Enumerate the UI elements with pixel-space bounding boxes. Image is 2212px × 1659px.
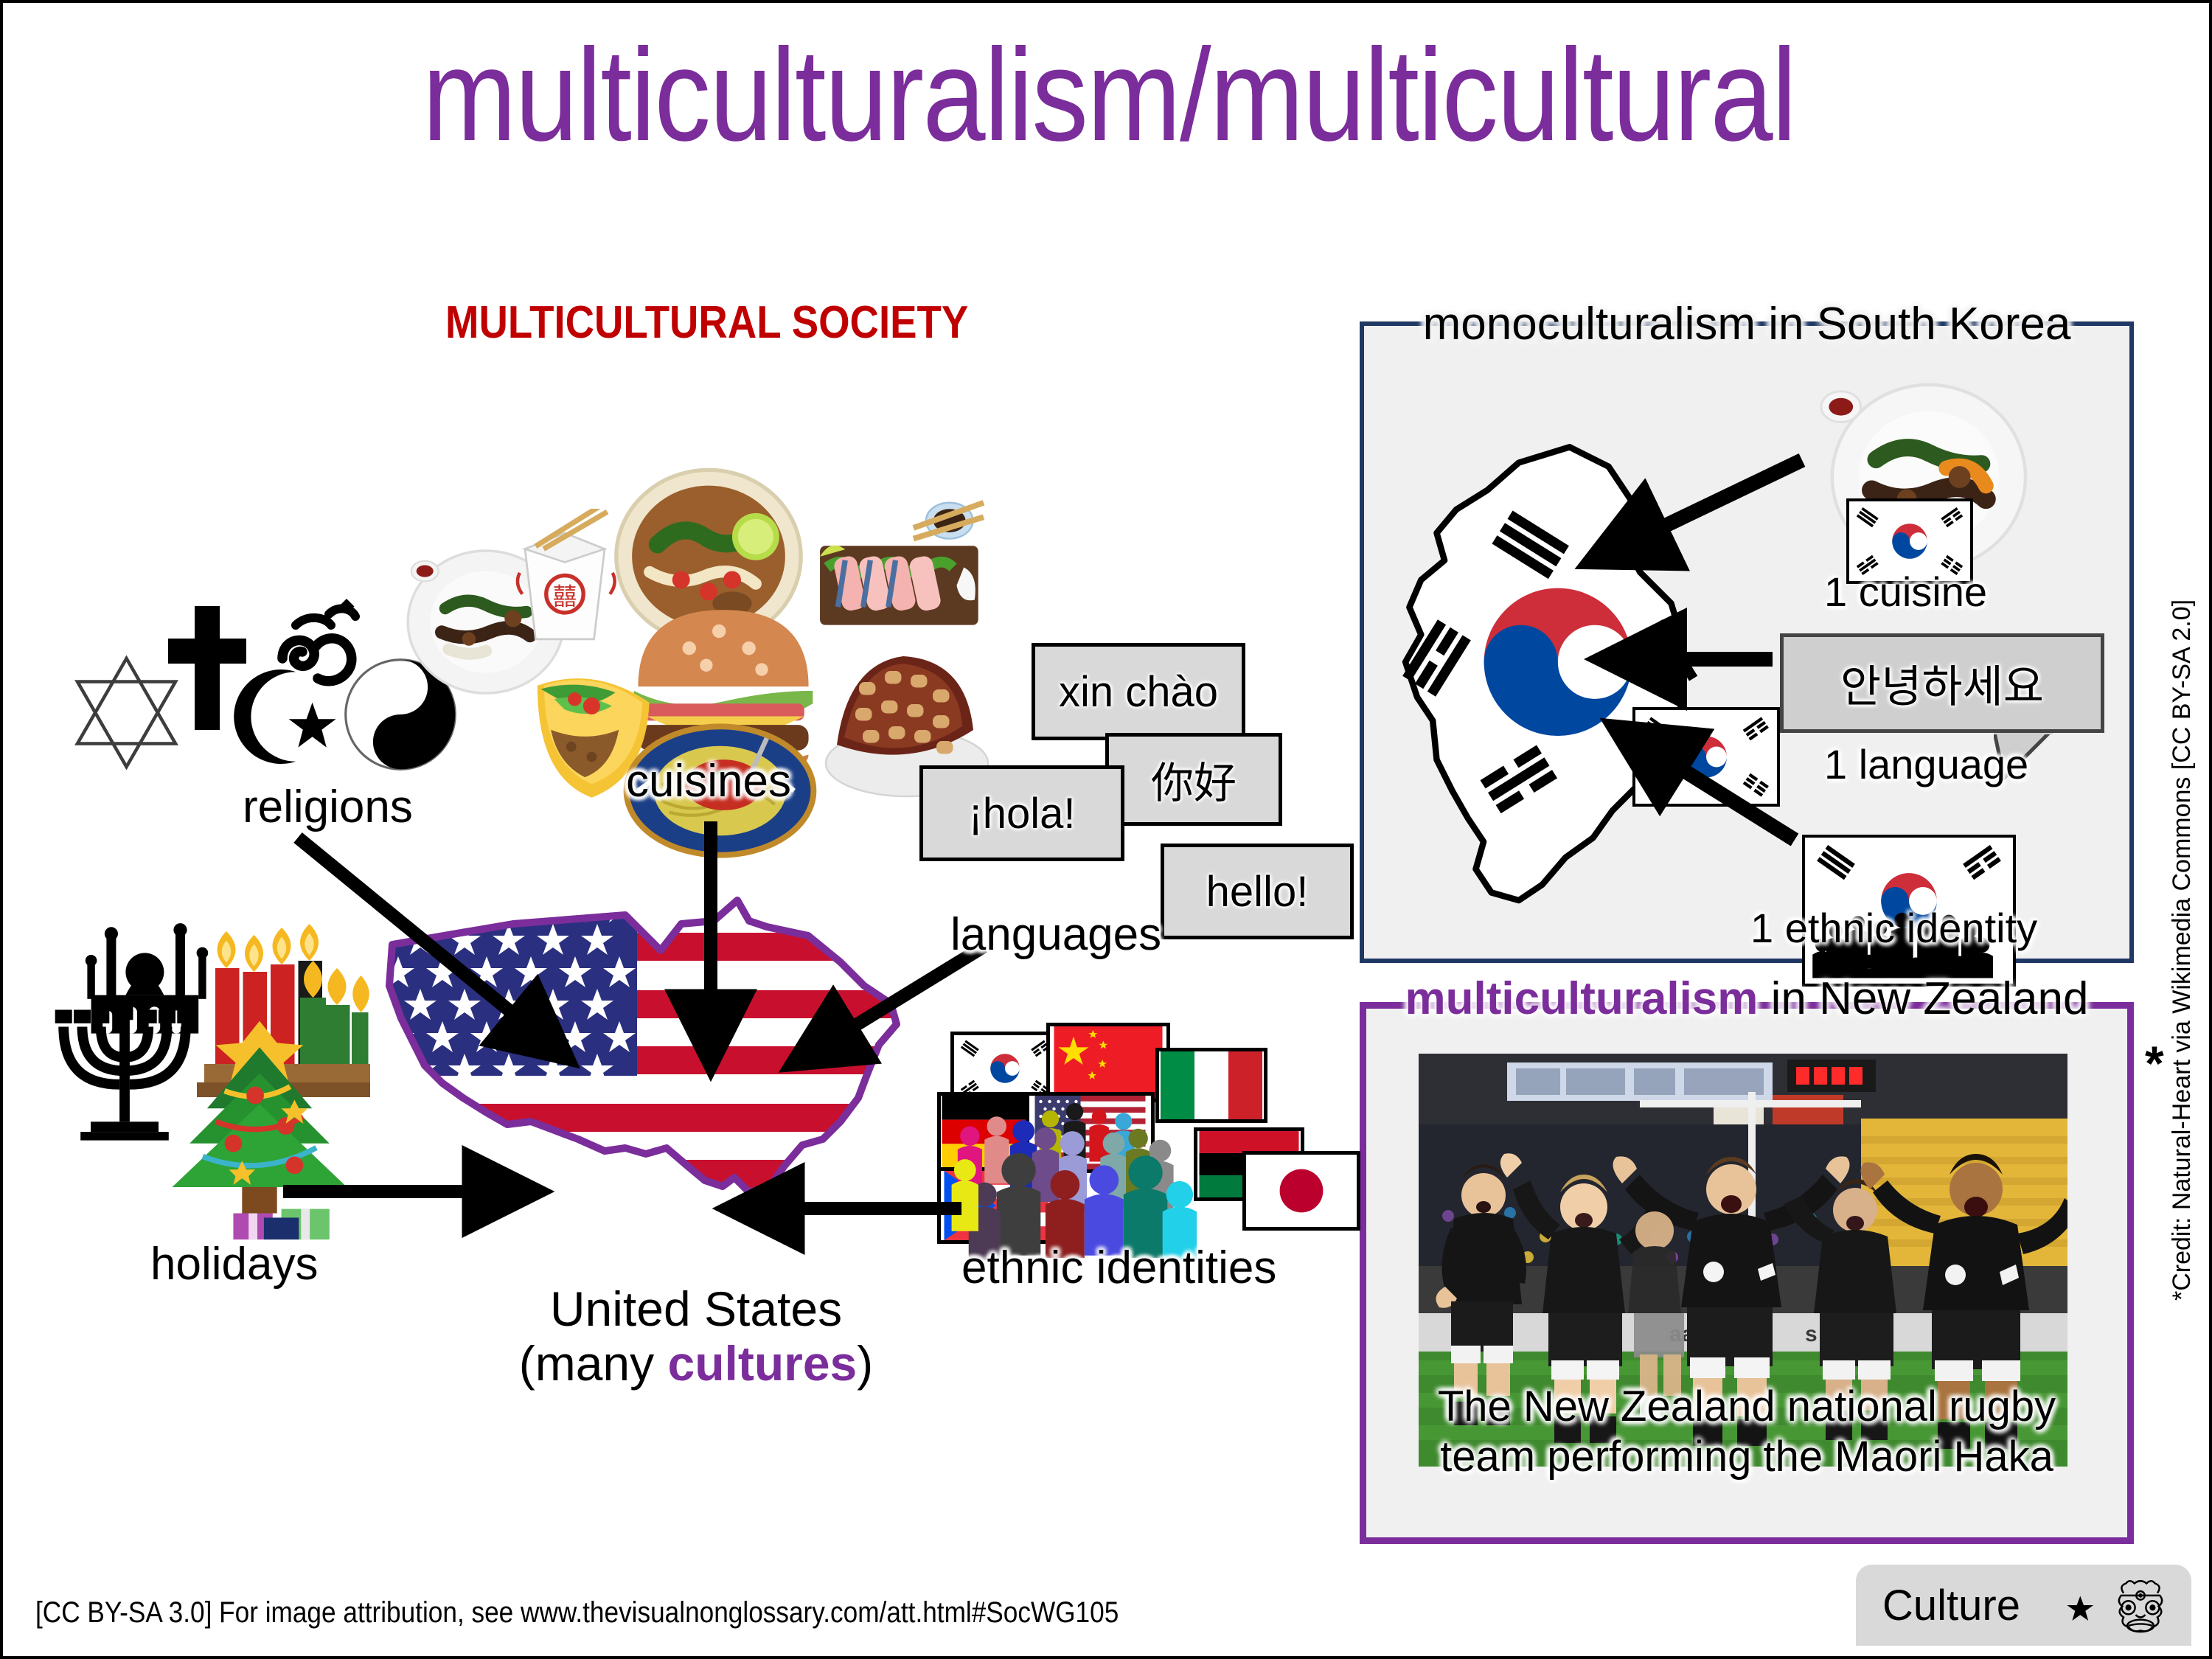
bubble-text-vi: xin chào	[1059, 667, 1218, 717]
us-caption-line1: United States	[550, 1281, 842, 1336]
vertical-image-credit: *Credit: Natural-Heart via Wikimedia Com…	[2168, 637, 2197, 1301]
bubble-text-en: hello!	[1206, 867, 1309, 917]
nz-photo-caption: The New Zealand national rugby team perf…	[1374, 1382, 2119, 1483]
holidays-image-group	[40, 906, 408, 1245]
page-title: multiculturalism/multicultural	[158, 29, 2060, 161]
us-caption-suffix: )	[857, 1336, 873, 1391]
diverse-people-silhouettes	[943, 1082, 1260, 1266]
culture-category-badge: Culture	[1856, 1565, 2191, 1646]
crescent-moon-star-icon	[2037, 1576, 2094, 1634]
speech-bubble-spanish: ¡hola!	[919, 765, 1124, 861]
united-states-map-with-flag	[372, 877, 932, 1245]
section-heading-multicultural-society: MULTICULTURAL SOCIETY	[445, 296, 968, 349]
korean-greeting-text: 안녕하세요	[1840, 651, 2044, 715]
svg-text:s: s	[1805, 1322, 1818, 1346]
nz-title-highlight: multiculturalism	[1405, 973, 1759, 1024]
ethnic-identities-flag-group	[950, 1032, 1319, 1275]
religions-symbol-group	[62, 585, 460, 785]
label-languages: languages	[950, 908, 1161, 961]
korean-greeting-box: 안녕하세요	[1780, 633, 2104, 733]
nz-title-rest: in New Zealand	[1758, 973, 2088, 1024]
sk-label-cuisine: 1 cuisine	[1824, 568, 1987, 616]
nz-caption-line2: team performing the Maori Haka	[1440, 1433, 2053, 1481]
footer-attribution: [CC BY-SA 3.0] For image attribution, se…	[35, 1596, 1119, 1630]
bubble-text-zh: 你好	[1151, 748, 1237, 810]
infographic-page: multiculturalism/multicultural MULTICULT…	[0, 0, 2212, 1659]
nz-caption-line1: The New Zealand national rugby	[1438, 1382, 2056, 1430]
nz-credit-asterisk: *	[2145, 1035, 2164, 1091]
cuisines-image-group: 囍	[401, 460, 976, 799]
label-religions: religions	[243, 781, 413, 833]
sk-panel-title: monoculturalism in South Korea	[1360, 298, 2134, 350]
sk-label-ethnic-identity: 1 ethnic identity	[1750, 904, 2037, 952]
nz-panel-title: multiculturalism in New Zealand	[1360, 973, 2134, 1025]
star-and-crescent-icon	[223, 658, 341, 776]
speech-bubble-english: hello!	[1161, 844, 1354, 939]
label-cuisines: cuisines	[626, 755, 791, 807]
label-ethnic-identities: ethnic identities	[961, 1242, 1276, 1294]
speech-bubble-chinese: 你好	[1105, 733, 1282, 826]
us-caption-prefix: (many	[519, 1336, 668, 1391]
christmas-tree-icon	[149, 1008, 370, 1244]
svg-text:囍: 囍	[553, 584, 577, 611]
sushi-platter	[805, 495, 986, 643]
label-holidays: holidays	[150, 1238, 318, 1290]
culture-badge-label: Culture	[1882, 1581, 2020, 1630]
sk-label-language: 1 language	[1824, 740, 2028, 788]
sk-flag-language	[1632, 707, 1780, 807]
japan-flag	[1242, 1151, 1360, 1231]
us-country-caption: United States (many cultures)	[416, 1282, 976, 1391]
speech-bubble-vietnamese: xin chào	[1032, 643, 1245, 740]
us-caption-highlight: cultures	[667, 1336, 857, 1391]
lion-dance-mask-icon	[2110, 1575, 2171, 1635]
south-korea-map-with-flag	[1378, 420, 1769, 936]
bubble-text-es: ¡hola!	[968, 789, 1075, 838]
